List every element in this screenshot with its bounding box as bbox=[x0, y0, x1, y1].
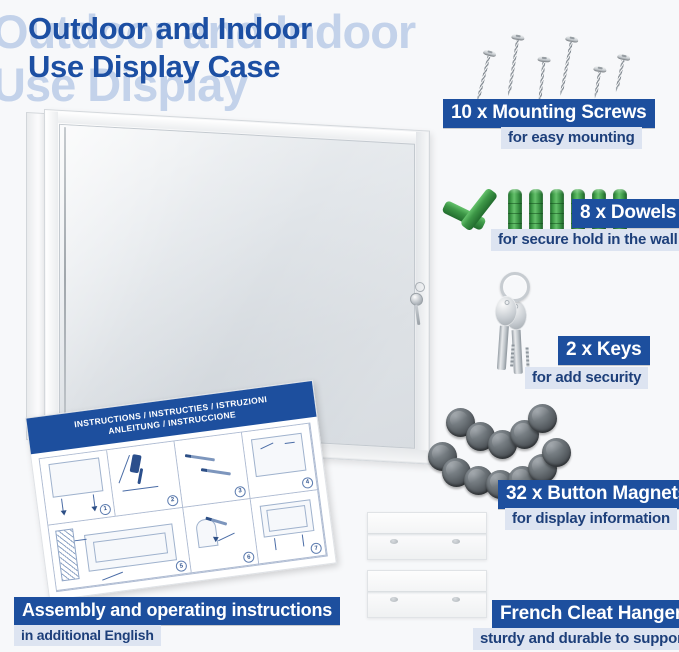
mounting-screws-illustration bbox=[478, 28, 668, 103]
cleat-subtitle: sturdy and durable to support bbox=[473, 628, 679, 650]
cleat-screw-hole bbox=[390, 597, 398, 602]
product-infographic: Outdoor and Indoor Use Display Outdoor a… bbox=[0, 0, 679, 652]
keys-subtitle: for add security bbox=[525, 367, 648, 389]
lock-keyring-icon bbox=[415, 282, 425, 293]
instruction-panel: 2 bbox=[107, 441, 183, 516]
cleat-screw-hole bbox=[452, 597, 460, 602]
panel-number: 2 bbox=[167, 494, 179, 506]
instruction-panel: 1 bbox=[40, 450, 116, 525]
keys-banner: 2 x Keys bbox=[558, 336, 650, 365]
cleat-banner: French Cleat Hanger bbox=[492, 600, 679, 629]
magnets-banner: 32 x Button Magnets bbox=[498, 480, 679, 509]
cleat-groove bbox=[368, 591, 486, 594]
panel-number: 5 bbox=[175, 560, 187, 572]
screws-subtitle: for easy mounting bbox=[501, 127, 642, 149]
dowel-icon bbox=[508, 189, 522, 233]
magnet-icon bbox=[528, 404, 557, 433]
page-title: Outdoor and Indoor Use Display Case bbox=[28, 10, 312, 86]
instruction-panel: 3 bbox=[175, 433, 251, 508]
screw-icon bbox=[589, 65, 607, 100]
cleat-screw-hole bbox=[390, 539, 398, 544]
key-icon bbox=[491, 295, 518, 370]
panel-number: 3 bbox=[234, 485, 246, 497]
panel-number: 7 bbox=[310, 542, 322, 554]
instructions-banner: Assembly and operating instructions bbox=[14, 597, 340, 625]
screw-icon bbox=[502, 33, 525, 97]
magnets-subtitle: for display information bbox=[505, 508, 677, 530]
panel-number: 1 bbox=[99, 503, 111, 515]
dowel-icon bbox=[529, 189, 543, 233]
screws-banner: 10 x Mounting Screws bbox=[443, 99, 655, 128]
dowel-icon bbox=[550, 189, 564, 233]
keys-illustration bbox=[480, 272, 560, 372]
cleat-groove bbox=[368, 533, 486, 536]
cleat-icon bbox=[367, 512, 487, 560]
magnet-icon bbox=[542, 438, 571, 467]
instruction-panel: 6 bbox=[183, 498, 259, 573]
screw-icon bbox=[471, 48, 496, 103]
instruction-panel: 4 bbox=[242, 424, 318, 499]
instruction-panel-grid: 1 2 3 bbox=[39, 423, 328, 593]
screw-icon bbox=[533, 55, 551, 103]
screw-icon bbox=[554, 35, 578, 97]
panel-number: 6 bbox=[243, 551, 255, 563]
cleat-screw-hole bbox=[452, 539, 460, 544]
instruction-panel: 7 bbox=[251, 490, 327, 565]
instruction-sheet: INSTRUCTIONS / INSTRUCTIES / ISTRUZIONI … bbox=[25, 380, 337, 601]
screw-icon bbox=[610, 53, 631, 94]
dowels-banner: 8 x Dowels bbox=[572, 199, 679, 228]
cleat-icon bbox=[367, 570, 487, 618]
panel-number: 4 bbox=[301, 476, 313, 488]
instructions-subtitle: in additional English bbox=[14, 625, 161, 646]
frame-bevel-left bbox=[46, 111, 58, 442]
dowels-subtitle: for secure hold in the wall bbox=[491, 229, 679, 251]
hinge-icon bbox=[64, 127, 66, 427]
